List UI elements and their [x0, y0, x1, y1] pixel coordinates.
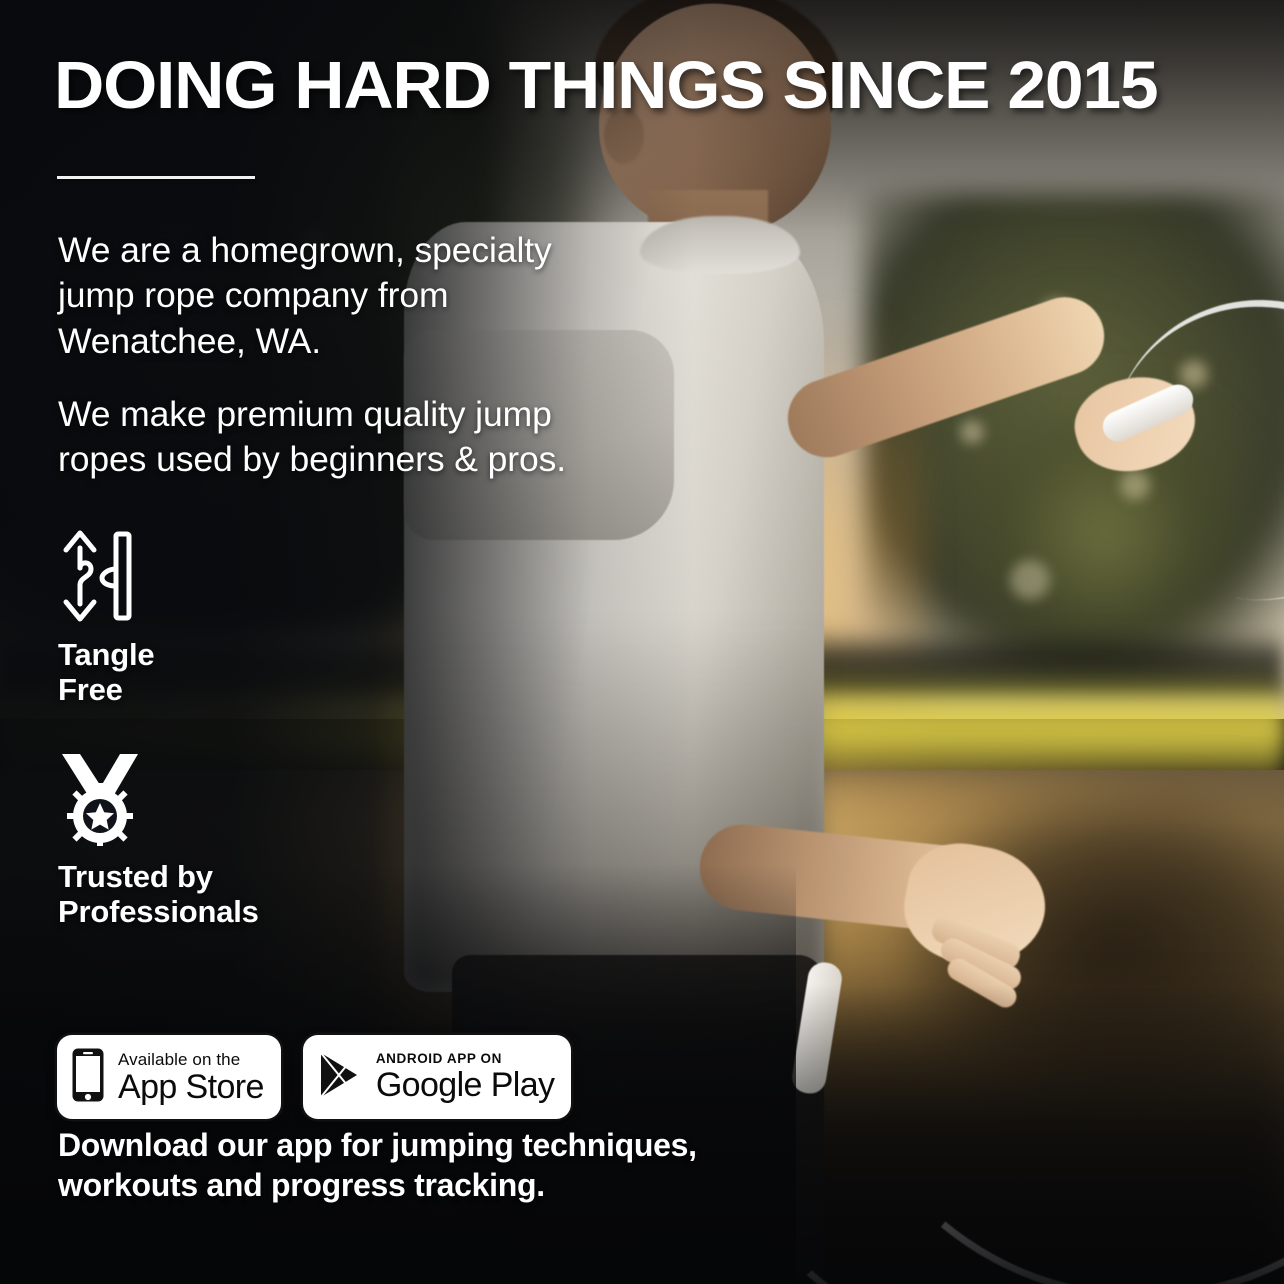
- app-store-badge[interactable]: Available on the App Store: [57, 1035, 281, 1119]
- download-caption: Download our app for jumping techniques,…: [58, 1126, 858, 1205]
- tangle-free-icon: [58, 528, 144, 624]
- iphone-icon: [71, 1047, 105, 1108]
- google-play-top-text: ANDROID APP ON: [376, 1052, 555, 1066]
- page-title: DOING HARD THINGS SINCE 2015: [54, 52, 1281, 119]
- google-play-triangle-icon: [317, 1050, 363, 1105]
- app-store-top-text: Available on the: [118, 1051, 264, 1068]
- store-badges: Available on the App Store ANDROID APP O…: [57, 1035, 571, 1119]
- intro-paragraph-2: We make premium quality jump ropes used …: [58, 392, 758, 483]
- google-play-main-text: Google Play: [376, 1068, 555, 1102]
- google-play-text: ANDROID APP ON Google Play: [376, 1052, 555, 1102]
- feature-label: Tangle Free: [58, 638, 154, 707]
- google-play-badge[interactable]: ANDROID APP ON Google Play: [303, 1035, 572, 1119]
- feature-label: Trusted by Professionals: [58, 860, 259, 929]
- app-store-main-text: App Store: [118, 1070, 264, 1104]
- feature-tangle-free: Tangle Free: [58, 528, 154, 707]
- feature-trusted-by-professionals: Trusted by Professionals: [58, 750, 259, 929]
- title-divider: [57, 176, 255, 179]
- intro-paragraph-1: We are a homegrown, specialty jump rope …: [58, 228, 758, 364]
- medal-icon: [58, 750, 144, 846]
- promo-image: DOING HARD THINGS SINCE 2015 We are a ho…: [0, 0, 1284, 1284]
- app-store-text: Available on the App Store: [118, 1051, 264, 1104]
- content-layer: DOING HARD THINGS SINCE 2015 We are a ho…: [0, 0, 1284, 1284]
